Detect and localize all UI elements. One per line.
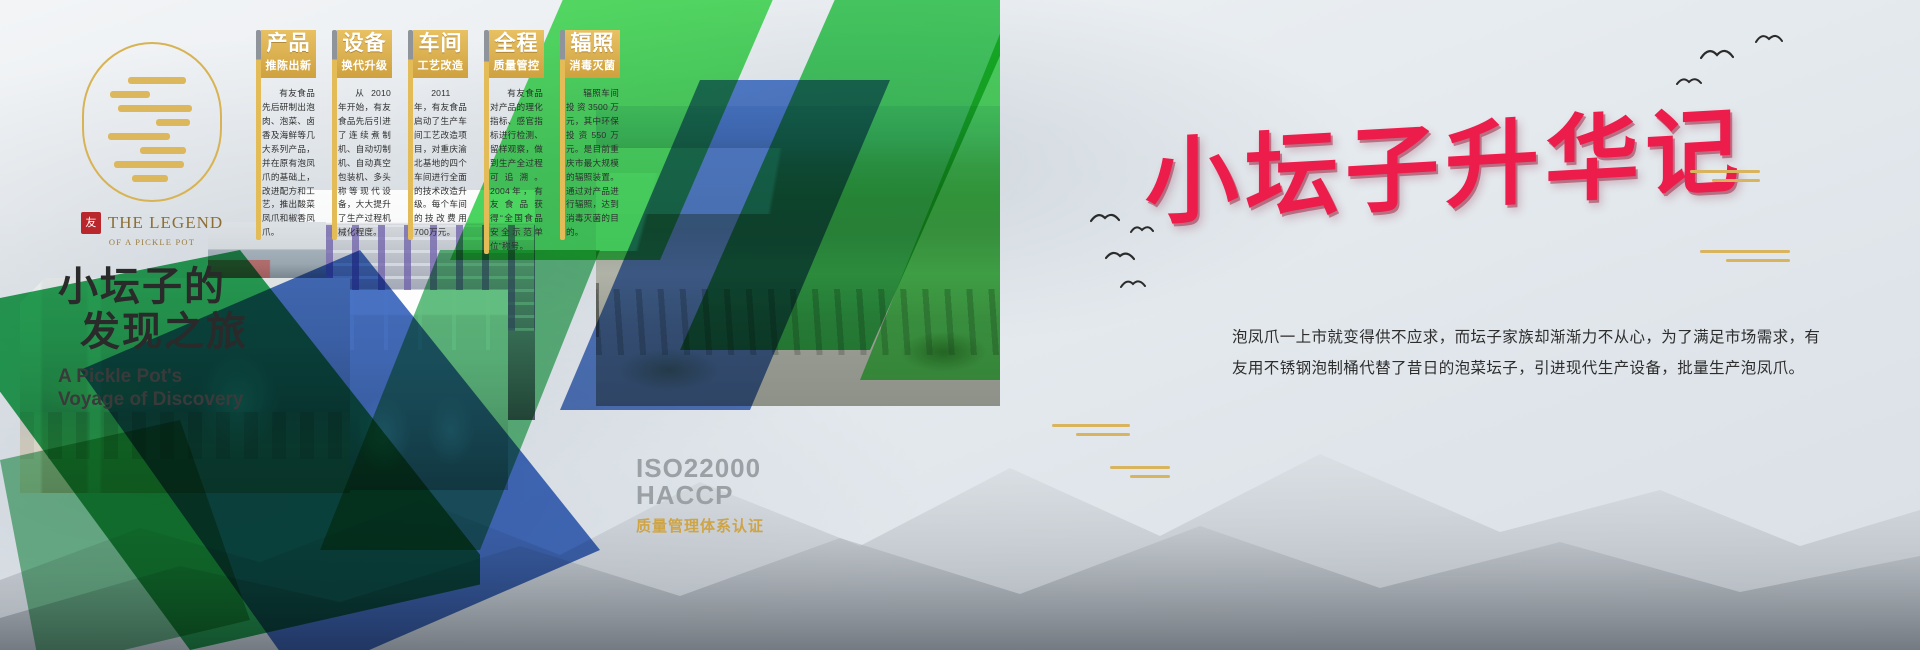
brand-name-row: 友 THE LEGEND bbox=[52, 212, 252, 234]
main-subtitle-en-line1: A Pickle Pot's bbox=[58, 365, 252, 388]
certification-line2: HACCP bbox=[636, 482, 764, 509]
feature-body-5: 辐照车间投资3500万元，其中环保投资550万元。是目前重庆市最大规模的辐照装置… bbox=[565, 87, 620, 240]
certification-line3: 质量管理体系认证 bbox=[636, 515, 764, 536]
feature-badge-1: 产品 推陈出新 bbox=[261, 30, 316, 78]
feature-subtitle-2: 换代升级 bbox=[341, 57, 388, 73]
pickle-pot-seal-icon bbox=[82, 42, 222, 202]
red-stamp-icon: 友 bbox=[81, 212, 101, 234]
main-title-cn-line2: 发现之旅 bbox=[58, 310, 252, 355]
bird-icon-4 bbox=[1090, 209, 1120, 225]
brand-block: 友 THE LEGEND OF A PICKLE POT 小坛子的 发现之旅 A… bbox=[52, 42, 252, 411]
certification-block: ISO22000 HACCP 质量管理体系认证 bbox=[636, 455, 764, 536]
gold-cloud-icon-4 bbox=[1110, 466, 1170, 484]
feature-subtitle-4: 质量管控 bbox=[493, 57, 540, 73]
headline-calligraphy: 小坛子升华记 bbox=[1145, 68, 1865, 238]
feature-badge-2: 设备 换代升级 bbox=[337, 30, 392, 78]
gold-cloud-icon-3 bbox=[1052, 424, 1130, 442]
main-subtitle-en-line2: Voyage of Discovery bbox=[58, 388, 252, 411]
feature-subtitle-1: 推陈出新 bbox=[265, 57, 312, 73]
feature-title-2: 设备 bbox=[341, 33, 388, 55]
main-title-cn-line1: 小坛子的 bbox=[58, 265, 252, 310]
feature-title-4: 全程 bbox=[493, 33, 540, 55]
feature-body-1: 有友食品先后研制出泡肉、泡菜、卤香及海鲜等几大系列产品，并在原有泡凤爪的基础上，… bbox=[261, 87, 316, 240]
feature-title-5: 辐照 bbox=[569, 33, 616, 55]
feature-badge-4: 全程 质量管控 bbox=[489, 30, 544, 78]
feature-badge-5: 辐照 消毒灭菌 bbox=[565, 30, 620, 78]
feature-subtitle-3: 工艺改造 bbox=[417, 57, 464, 73]
poster-canvas: 友 THE LEGEND OF A PICKLE POT 小坛子的 发现之旅 A… bbox=[0, 0, 1920, 650]
brand-name-en: THE LEGEND bbox=[108, 213, 223, 233]
feature-body-2: 从2010年开始，有友食品先后引进了连续煮制机、自动切制机、自动真空包装机、多头… bbox=[337, 87, 392, 240]
feature-body-4: 有友食品对产品的理化指标、感官指标进行检测、留样观察，做到生产全过程可追溯。20… bbox=[489, 87, 544, 254]
gold-cloud-icon-2 bbox=[1700, 250, 1790, 268]
bird-icon-2 bbox=[1755, 30, 1783, 46]
certification-line1: ISO22000 bbox=[636, 455, 764, 482]
main-title-cn: 小坛子的 发现之旅 bbox=[52, 265, 252, 355]
feature-subtitle-5: 消毒灭菌 bbox=[569, 57, 616, 73]
brand-name-en-sub: OF A PICKLE POT bbox=[52, 237, 252, 247]
bird-icon-6 bbox=[1105, 247, 1135, 263]
aerial-campus-photo bbox=[596, 106, 1000, 406]
body-paragraph: 泡凤爪一上市就变得供不应求，而坛子家族却渐渐力不从心，为了满足市场需求，有友用不… bbox=[1232, 322, 1832, 384]
feature-body-3: 2011年，有友食品启动了生产车间工艺改造项目，对重庆渝北基地的四个车间进行全面… bbox=[413, 87, 468, 240]
bird-icon-1 bbox=[1700, 44, 1734, 62]
bird-icon-7 bbox=[1120, 276, 1146, 291]
main-subtitle-en: A Pickle Pot's Voyage of Discovery bbox=[52, 365, 252, 411]
feature-title-1: 产品 bbox=[265, 33, 312, 55]
feature-title-3: 车间 bbox=[417, 33, 464, 55]
feature-badge-3: 车间 工艺改造 bbox=[413, 30, 468, 78]
